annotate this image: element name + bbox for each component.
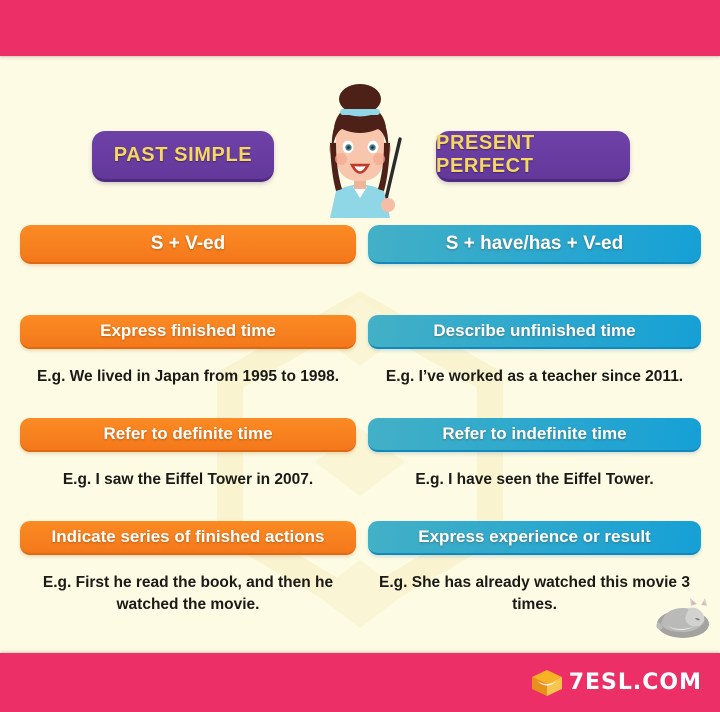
formula-bar-past-simple: S + V-ed	[20, 225, 356, 264]
site-logo-text: 7ESL.COM	[569, 672, 702, 694]
feature-bar-present-perfect-2: Refer to indefinite time	[368, 418, 701, 452]
graduation-cap-icon	[531, 669, 563, 697]
feature-label: Describe unfinished time	[433, 322, 635, 340]
teacher-with-pointer-icon	[296, 83, 424, 218]
tense-button-past-simple[interactable]: PAST SIMPLE	[92, 131, 274, 182]
feature-bar-past-simple-3: Indicate series of finished actions	[20, 521, 356, 555]
tense-button-present-perfect-label: PRESENT PERFECT	[436, 132, 630, 178]
formula-bar-present-perfect: S + have/has + V-ed	[368, 225, 701, 264]
infographic-poster: PAST SIMPLE&PRESENT PERFECT PAST SIMPLE …	[0, 0, 720, 712]
header-band	[0, 0, 720, 56]
site-logo[interactable]: 7ESL.COM	[531, 668, 702, 698]
feature-label: Express finished time	[100, 322, 276, 340]
formula-past-simple-text: S + V-ed	[151, 234, 225, 254]
feature-bar-past-simple-1: Express finished time	[20, 315, 356, 349]
feature-bar-present-perfect-3: Express experience or result	[368, 521, 701, 555]
example-past-simple-1: E.g. We lived in Japan from 1995 to 1998…	[12, 366, 364, 388]
example-past-simple-2: E.g. I saw the Eiffel Tower in 2007.	[12, 469, 364, 491]
feature-bar-past-simple-2: Refer to definite time	[20, 418, 356, 452]
feature-bar-present-perfect-1: Describe unfinished time	[368, 315, 701, 349]
tense-button-present-perfect[interactable]: PRESENT PERFECT	[436, 131, 630, 182]
formula-present-perfect-text: S + have/has + V-ed	[446, 234, 623, 254]
feature-label: Refer to definite time	[103, 425, 272, 443]
feature-label: Indicate series of finished actions	[51, 528, 324, 546]
poster-body: PAST SIMPLE PRESENT PERFECT	[0, 56, 720, 653]
example-present-perfect-2: E.g. I have seen the Eiffel Tower.	[362, 469, 707, 491]
example-present-perfect-1: E.g. I’ve worked as a teacher since 2011…	[362, 366, 707, 388]
feature-label: Express experience or result	[418, 528, 650, 546]
tense-button-past-simple-label: PAST SIMPLE	[114, 144, 252, 167]
feature-label: Refer to indefinite time	[442, 425, 626, 443]
sleeping-cat-icon	[655, 596, 711, 640]
example-past-simple-3: E.g. First he read the book, and then he…	[12, 572, 364, 616]
